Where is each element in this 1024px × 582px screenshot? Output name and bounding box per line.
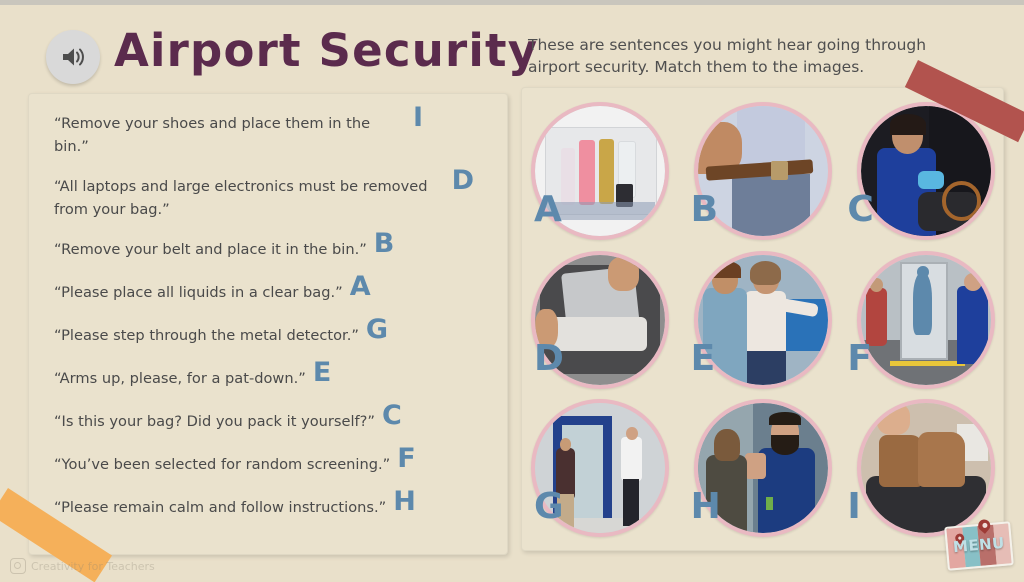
answer-letter: E bbox=[313, 362, 331, 384]
list-item[interactable]: “Remove your shoes and place them in the… bbox=[54, 112, 474, 158]
sentence-text: “You’ve been selected for random screeni… bbox=[54, 453, 390, 476]
slide-canvas: Airport Security These are sentences you… bbox=[0, 0, 1024, 580]
image-letter: D bbox=[534, 341, 564, 377]
answer-letter: B bbox=[374, 233, 395, 255]
sentence-list: “Remove your shoes and place them in the… bbox=[54, 112, 474, 539]
image-letter: I bbox=[847, 489, 860, 525]
list-item[interactable]: “Arms up, please, for a pat-down.” E bbox=[54, 367, 474, 393]
list-item[interactable]: “All laptops and large electronics must … bbox=[54, 175, 474, 221]
sentence-text: “All laptops and large electronics must … bbox=[54, 175, 445, 221]
answer-letter: G bbox=[366, 319, 388, 341]
image-letter: A bbox=[534, 192, 562, 228]
list-item[interactable]: “Please place all liquids in a clear bag… bbox=[54, 281, 474, 307]
image-cell-g[interactable]: G bbox=[528, 393, 685, 542]
list-item[interactable]: “Is this your bag? Did you pack it yours… bbox=[54, 410, 474, 436]
image-cell-i[interactable]: I bbox=[841, 393, 998, 542]
image-letter: E bbox=[691, 341, 716, 377]
answer-letter: D bbox=[452, 170, 474, 192]
image-grid: A B C bbox=[528, 96, 998, 542]
answer-letter: A bbox=[350, 276, 371, 298]
instructions-text: These are sentences you might hear going… bbox=[528, 34, 948, 78]
sentence-text: “Arms up, please, for a pat-down.” bbox=[54, 367, 306, 390]
sentence-text: “Please place all liquids in a clear bag… bbox=[54, 281, 343, 304]
image-cell-h[interactable]: H bbox=[685, 393, 842, 542]
sentence-text: “Is this your bag? Did you pack it yours… bbox=[54, 410, 375, 433]
image-letter: C bbox=[847, 192, 873, 228]
watermark-text: Creativity for Teachers bbox=[31, 560, 155, 573]
list-item[interactable]: “You’ve been selected for random screeni… bbox=[54, 453, 474, 479]
answer-letter: F bbox=[397, 448, 415, 470]
image-cell-b[interactable]: B bbox=[685, 96, 842, 245]
image-cell-a[interactable]: A bbox=[528, 96, 685, 245]
image-letter: B bbox=[691, 192, 718, 228]
photo-shoes-in-bin[interactable] bbox=[857, 399, 995, 537]
image-cell-f[interactable]: F bbox=[841, 245, 998, 394]
menu-button[interactable]: MENU bbox=[944, 521, 1014, 571]
sentence-text: “Remove your belt and place it in the bi… bbox=[54, 238, 367, 261]
list-item[interactable]: “Remove your belt and place it in the bi… bbox=[54, 238, 474, 264]
image-letter: G bbox=[534, 489, 564, 525]
header: Airport Security These are sentences you… bbox=[0, 8, 1024, 86]
watermark: Creativity for Teachers bbox=[10, 558, 155, 574]
photo-bag-inspection[interactable] bbox=[857, 102, 995, 240]
list-item[interactable]: “Please remain calm and follow instructi… bbox=[54, 496, 474, 522]
sentence-text: “Please step through the metal detector.… bbox=[54, 324, 359, 347]
answer-letter: H bbox=[393, 491, 416, 513]
page-title: Airport Security bbox=[114, 20, 538, 82]
image-cell-e[interactable]: E bbox=[685, 245, 842, 394]
list-item[interactable]: “Please step through the metal detector.… bbox=[54, 324, 474, 350]
answer-letter: C bbox=[382, 405, 402, 427]
answer-letter: I bbox=[413, 107, 423, 129]
sentence-text: “Remove your shoes and place them in the… bbox=[54, 112, 406, 158]
image-letter: H bbox=[691, 489, 721, 525]
top-strip bbox=[0, 0, 1024, 5]
photo-body-scanner[interactable] bbox=[857, 251, 995, 389]
instagram-icon bbox=[10, 558, 26, 574]
image-cell-d[interactable]: D bbox=[528, 245, 685, 394]
sentence-text: “Please remain calm and follow instructi… bbox=[54, 496, 386, 519]
image-letter: F bbox=[847, 341, 872, 377]
speaker-icon[interactable] bbox=[46, 30, 100, 84]
